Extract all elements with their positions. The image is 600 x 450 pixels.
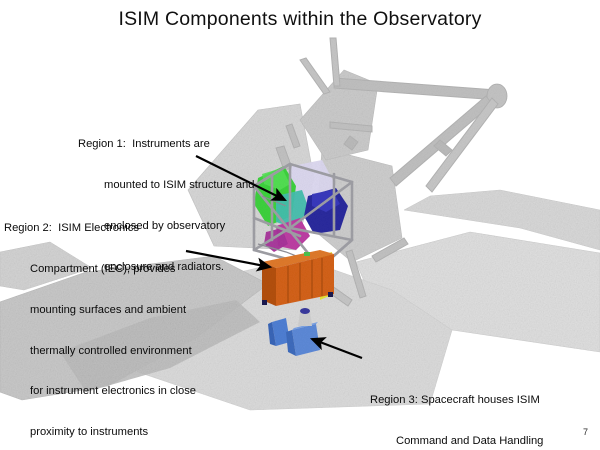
callout-region-2-line-1: Region 2: ISIM Electronics (4, 222, 196, 236)
iec-box (262, 262, 276, 306)
callout-region-3: Region 3: Spacecraft houses ISIM Command… (370, 367, 543, 450)
callout-region-2-line-6: proximity to instruments (4, 426, 196, 440)
callout-region-3-line-2: Command and Data Handling (370, 435, 543, 449)
page-number: 7 (583, 427, 588, 437)
cryocooler-cone (298, 312, 312, 326)
slide-title: ISIM Components within the Observatory (0, 8, 600, 31)
callout-region-1-line-2: mounted to ISIM structure and (78, 179, 255, 193)
callout-region-2-line-5: for instrument electronics in close (4, 385, 196, 399)
iec-connector (304, 252, 310, 256)
iec-foot-right (328, 292, 333, 297)
callout-region-1-line-1: Region 1: Instruments are (78, 138, 255, 152)
callout-region-2: Region 2: ISIM Electronics Compartment (… (4, 195, 196, 450)
slide-canvas: ISIM Components within the Observatory R… (0, 0, 600, 450)
callout-region-2-line-2: Compartment (IEC), provides (4, 263, 196, 277)
iec-foot-left (262, 300, 267, 305)
callout-region-2-line-4: thermally controlled environment (4, 345, 196, 359)
callout-region-2-line-3: mounting surfaces and ambient (4, 304, 196, 318)
callout-region-3-line-1: Region 3: Spacecraft houses ISIM (370, 394, 543, 408)
iec-assembly (262, 250, 334, 306)
